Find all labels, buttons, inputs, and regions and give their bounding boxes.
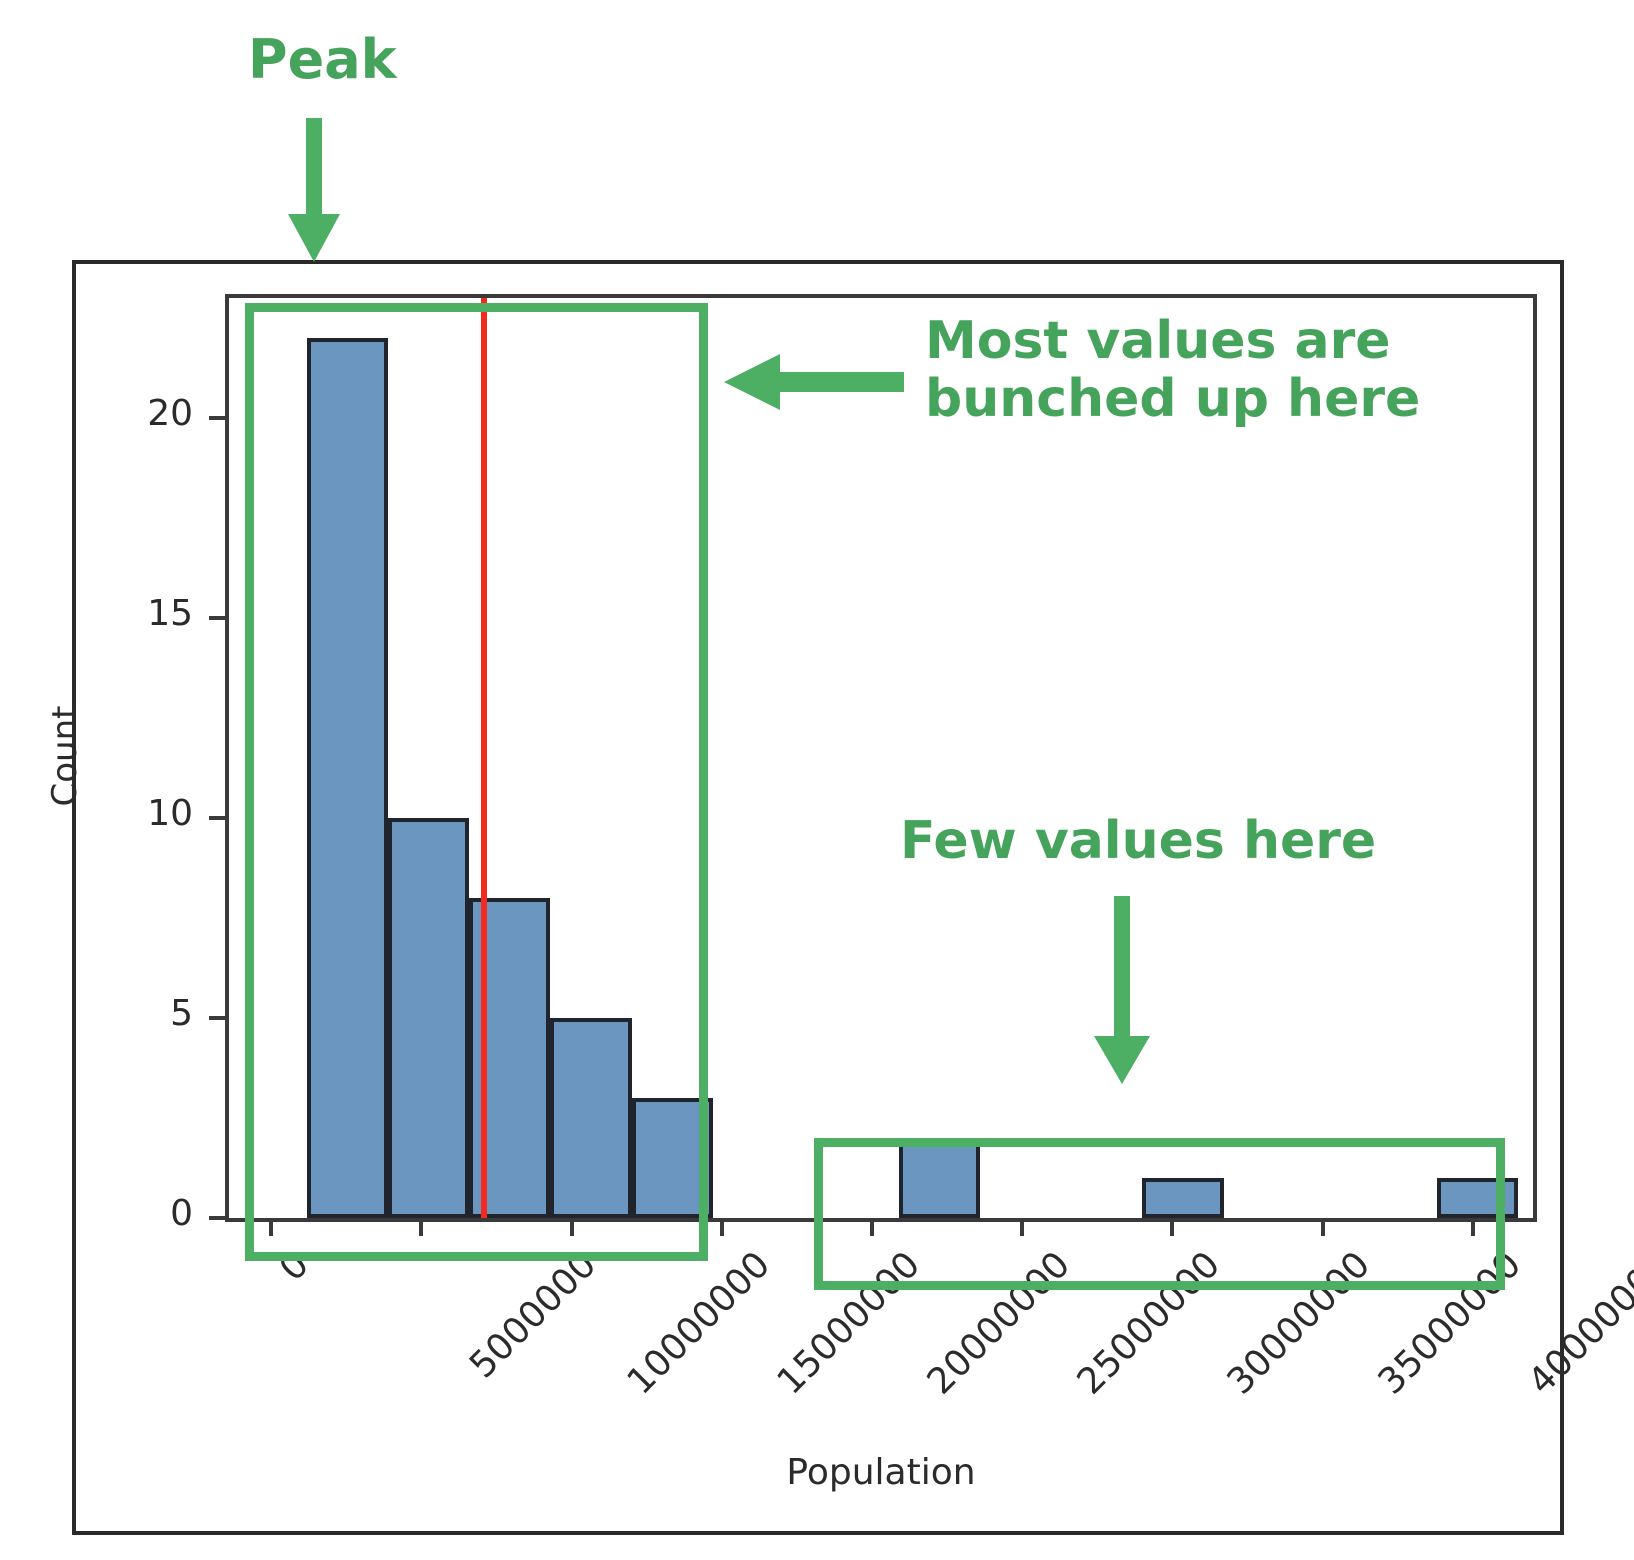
y-axis-tick [209,1016,225,1020]
left-arrow-icon-bunched [722,346,904,418]
annotation-box-tail-region [814,1138,1505,1290]
chart-canvas: 05101520 0500000010000000150000002000000… [0,0,1634,1560]
axis-spine-left [225,294,229,1222]
x-axis-label: Population [225,1452,1537,1493]
y-axis-tick-label: 5 [65,993,193,1034]
axis-spine-right [1533,294,1537,1222]
y-axis-tick [209,816,225,820]
annotation-label-bunched: Most values are bunched up here [925,312,1420,428]
down-arrow-icon-peak [286,118,342,264]
annotation-label-peak: Peak [248,30,397,90]
y-axis-tick [209,616,225,620]
y-axis-tick-label: 0 [65,1193,193,1234]
x-axis-tick [720,1218,724,1236]
down-arrow-icon-few [1092,896,1152,1086]
annotation-box-main-region [245,303,708,1261]
annotation-label-few: Few values here [900,812,1376,870]
y-axis-tick [209,1216,225,1220]
y-axis-tick [209,416,225,420]
y-axis-label: Count [45,606,85,906]
y-axis-tick-label: 20 [65,393,193,434]
axis-spine-top [225,294,1537,298]
